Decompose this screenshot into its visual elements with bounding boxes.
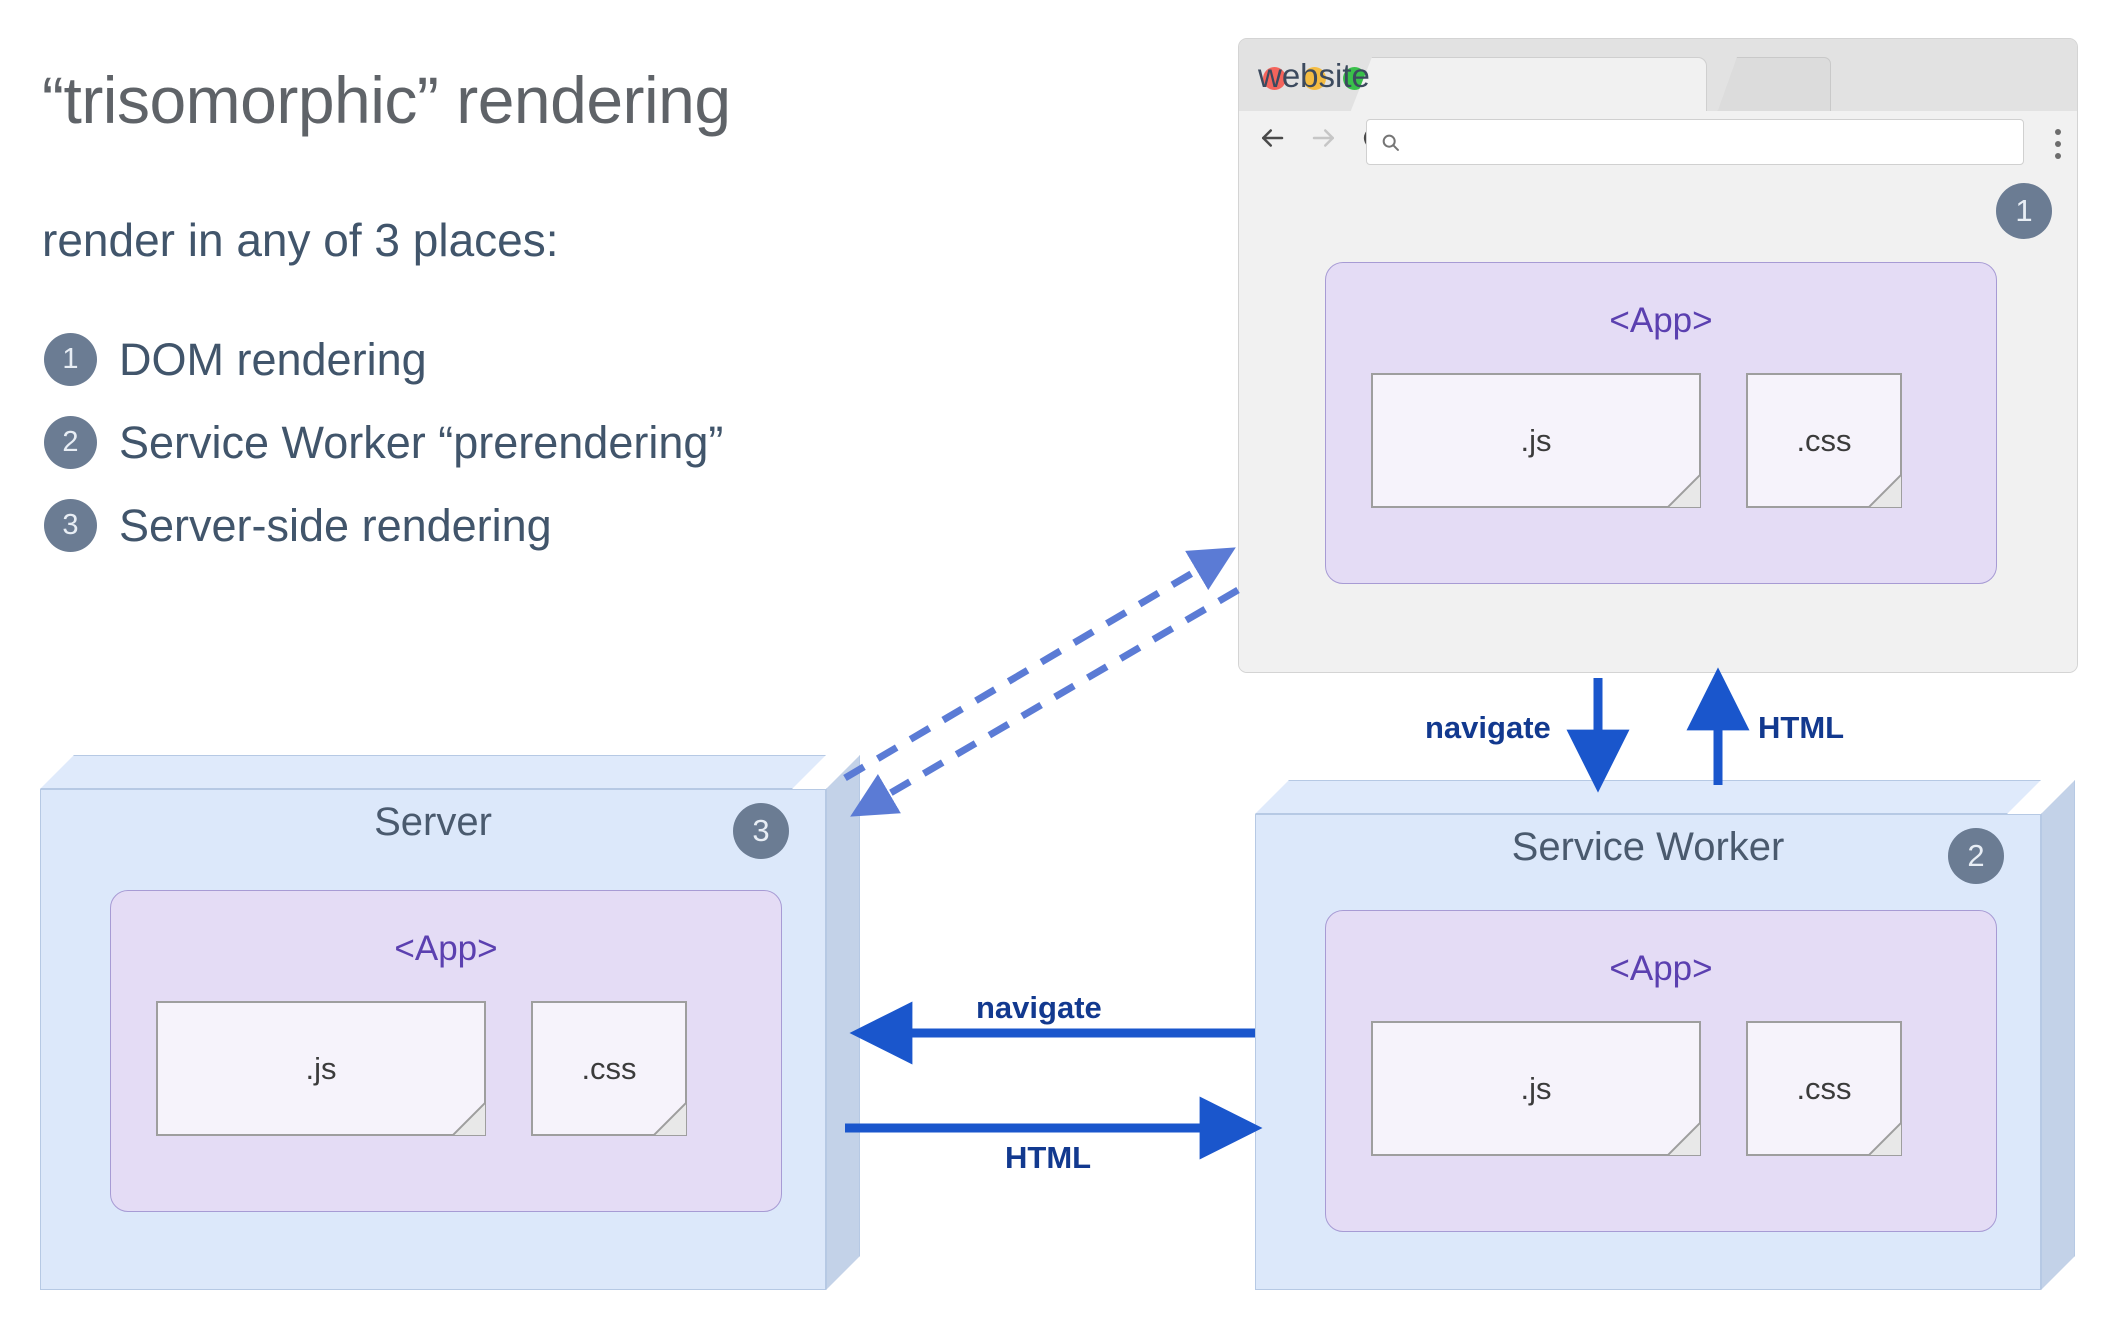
file-card-js: .js [1371, 373, 1701, 508]
browser-toolbar [1239, 111, 2077, 173]
app-label: <App> [111, 929, 781, 969]
page-subtitle: render in any of 3 places: [42, 213, 559, 267]
list-item-label: Server-side rendering [119, 500, 552, 552]
label-navigate-browser-sw: navigate [1425, 710, 1551, 746]
list-badge-3: 3 [44, 499, 97, 552]
server-title: Server [40, 800, 826, 845]
file-label: .css [1748, 423, 1900, 459]
list-item-label: DOM rendering [119, 334, 427, 386]
server-box-top-face [40, 755, 826, 789]
list-item-label: Service Worker “prerendering” [119, 417, 723, 469]
list-badge-1: 1 [44, 333, 97, 386]
page-fold-icon [452, 1102, 486, 1136]
tab-title-label: website [1258, 57, 1558, 95]
page-fold-icon [1667, 1122, 1701, 1156]
service-worker-app-container: <App> .js .css [1325, 910, 1997, 1232]
label-html-sw-browser: HTML [1758, 710, 1844, 746]
list-item: 2 Service Worker “prerendering” [44, 401, 723, 484]
server-box-side-face [826, 755, 860, 1290]
page-fold-icon [653, 1102, 687, 1136]
file-label: .css [533, 1051, 685, 1087]
arrow-dashed-to-server [858, 590, 1238, 812]
service-worker-step-badge: 2 [1948, 828, 2004, 884]
sw-box-top-face [1255, 780, 2041, 814]
file-card-css: .css [1746, 373, 1902, 508]
kebab-menu-icon[interactable] [2054, 129, 2061, 159]
file-card-js: .js [1371, 1021, 1701, 1156]
file-card-js: .js [156, 1001, 486, 1136]
search-icon [1380, 132, 1401, 158]
address-bar[interactable] [1366, 119, 2024, 165]
label-html-server-sw: HTML [1005, 1140, 1091, 1176]
places-list: 1 DOM rendering 2 Service Worker “preren… [44, 318, 723, 567]
page-fold-icon [1868, 474, 1902, 508]
app-label: <App> [1326, 301, 1996, 341]
browser-app-container: <App> .js .css [1325, 262, 1997, 584]
page-title: “trisomorphic” rendering [42, 62, 731, 138]
diagram-canvas: “trisomorphic” rendering render in any o… [0, 0, 2108, 1328]
service-worker-title: Service Worker [1255, 825, 2041, 870]
page-fold-icon [1868, 1122, 1902, 1156]
browser-step-badge: 1 [1996, 183, 2052, 239]
list-item: 1 DOM rendering [44, 318, 723, 401]
list-item: 3 Server-side rendering [44, 484, 723, 567]
page-fold-icon [1667, 474, 1701, 508]
server-app-container: <App> .js .css [110, 890, 782, 1212]
file-label: .js [158, 1051, 484, 1087]
back-arrow-icon[interactable] [1257, 123, 1287, 153]
label-navigate-sw-server: navigate [976, 990, 1102, 1026]
file-card-css: .css [1746, 1021, 1902, 1156]
forward-arrow-icon [1309, 123, 1339, 153]
file-card-css: .css [531, 1001, 687, 1136]
file-label: .css [1748, 1071, 1900, 1107]
app-label: <App> [1326, 949, 1996, 989]
tab-inactive[interactable] [1717, 57, 1831, 113]
server-step-badge: 3 [733, 803, 789, 859]
file-label: .js [1373, 1071, 1699, 1107]
sw-box-side-face [2041, 780, 2075, 1290]
file-label: .js [1373, 423, 1699, 459]
list-badge-2: 2 [44, 416, 97, 469]
arrow-dashed-to-browser [845, 552, 1228, 778]
